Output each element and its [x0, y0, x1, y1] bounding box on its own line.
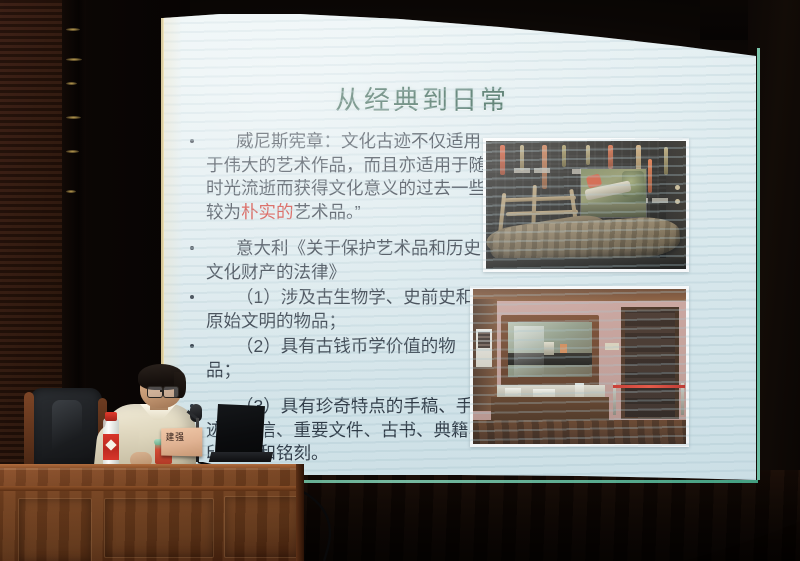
wooden-floor	[473, 420, 686, 444]
vitrine-glass	[508, 322, 592, 377]
bullet-segment: 艺术品。”	[294, 202, 361, 222]
podium-panel	[18, 498, 92, 561]
sill-object	[575, 383, 584, 397]
bullet-dot	[190, 139, 194, 143]
eyeglasses-lens	[147, 386, 163, 398]
chair-wood-arm	[24, 392, 34, 468]
hanging-tool	[648, 159, 652, 193]
image-content	[473, 289, 686, 444]
list-item: （2）具有古钱币学价值的物品；	[186, 335, 486, 382]
lecture-hall-photo: 从经典到日常 威尼斯宪章：文化古迹不仅适用于伟大的艺术作品，而且亦适用于随时光流…	[0, 0, 800, 561]
slide-image-museum-boat-display	[483, 138, 689, 272]
image-content	[486, 141, 686, 269]
name-placard: 建强	[161, 427, 202, 456]
spacer	[186, 384, 486, 395]
bullet-text-item-2: （2）具有古钱币学价值的物品；	[206, 335, 486, 382]
bullet-dot	[190, 246, 194, 250]
wall-light-glints	[64, 20, 86, 270]
wall-button-icon	[675, 199, 680, 204]
slide-image-museum-room-display	[470, 286, 689, 447]
hanging-tool	[542, 145, 547, 189]
podium-panel	[104, 498, 214, 558]
list-item: （1）涉及古生物学、史前史和原始文明的物品；	[186, 286, 486, 333]
hanging-tool	[500, 145, 505, 175]
bullet-dot	[190, 295, 194, 299]
laptop-screen-back	[215, 404, 265, 456]
podium-panel	[224, 496, 300, 558]
vitrine-exhibit	[544, 342, 554, 355]
display-vitrine-frame	[501, 315, 599, 387]
hanging-tool	[562, 145, 566, 167]
podium-right-edge	[296, 464, 304, 561]
spacer	[186, 226, 486, 237]
label-emblem	[105, 439, 116, 450]
closed-door	[625, 311, 675, 417]
hanging-tool	[608, 145, 613, 169]
vitrine-exhibit	[560, 344, 567, 353]
wall-sign	[605, 343, 619, 350]
gallery-floor	[486, 258, 686, 269]
poster-image	[478, 332, 490, 348]
inset-photograph	[581, 169, 646, 217]
sill-object	[505, 388, 521, 396]
exhibit-label	[652, 198, 668, 203]
water-bottle-label	[103, 434, 119, 460]
bullet-dot	[190, 344, 194, 348]
red-rope-barrier	[613, 385, 685, 388]
slide-title: 从经典到日常	[335, 80, 509, 117]
water-bottle-cap	[105, 412, 117, 421]
exhibit-label	[514, 168, 530, 173]
bullet-text-item-1: （1）涉及古生物学、史前史和原始文明的物品；	[206, 286, 486, 333]
screen-right-edge	[757, 48, 760, 480]
podium-moulding	[0, 486, 304, 491]
eyeglasses-lens	[163, 386, 179, 398]
chair-highlight	[52, 400, 82, 456]
bullet-text-italy-law: 意大利《关于保护艺术品和历史文化财产的法律》	[206, 237, 486, 284]
bullet-text-venice-charter: 威尼斯宪章：文化古迹不仅适用于伟大的艺术作品，而且亦适用于随时光流逝而获得文化意…	[206, 130, 486, 224]
glass-reflection	[514, 326, 544, 376]
laptop-base	[209, 452, 273, 462]
eyeglasses-bridge	[160, 390, 164, 392]
list-item: 意大利《关于保护艺术品和历史文化财产的法律》	[186, 237, 486, 284]
list-item: 威尼斯宪章：文化古迹不仅适用于伟大的艺术作品，而且亦适用于随时光流逝而获得文化意…	[186, 130, 486, 224]
exhibit-label	[534, 168, 550, 173]
bullet-segment-highlight: 朴实的	[241, 202, 294, 222]
ceiling-trim	[473, 289, 686, 301]
name-placard-text: 建强	[166, 432, 197, 453]
hanging-tool	[586, 145, 590, 165]
hanging-tool	[664, 147, 668, 175]
wall-button-icon	[675, 185, 680, 190]
sill-object	[533, 389, 555, 397]
wall-poster	[476, 329, 492, 367]
